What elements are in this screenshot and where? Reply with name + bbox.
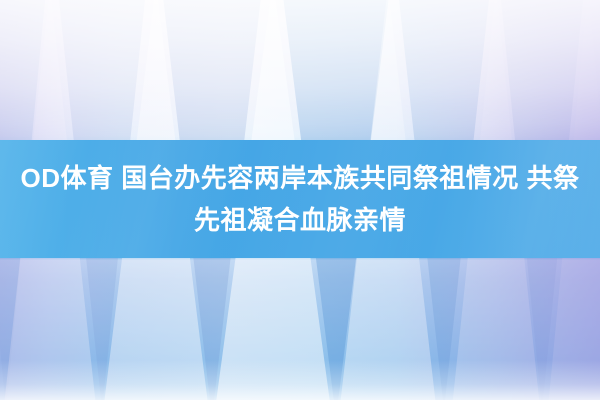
headline-line-1: OD体育 国台办先容两岸本族共同祭祖情况 共祭 — [15, 157, 586, 199]
promo-banner: OD体育 国台办先容两岸本族共同祭祖情况 共祭 先祖凝合血脉亲情 — [0, 0, 600, 400]
headline-text: OD体育 国台办先容两岸本族共同祭祖情况 共祭 先祖凝合血脉亲情 — [0, 140, 600, 258]
headline-line-2: 先祖凝合血脉亲情 — [188, 199, 412, 241]
